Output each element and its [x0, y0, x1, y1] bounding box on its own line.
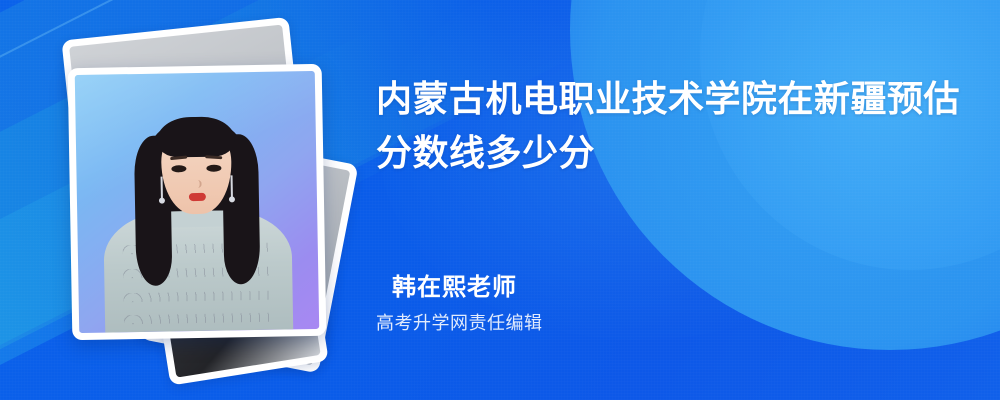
author-role: 高考升学网责任编辑	[376, 310, 936, 336]
portrait-earring-right	[231, 176, 233, 198]
article-banner: 内蒙古机电职业技术学院在新疆预估分数线多少分 韩在熙老师 高考升学网责任编辑	[0, 0, 1000, 400]
portrait-lips	[188, 193, 205, 201]
author-name: 韩在熙老师	[376, 272, 936, 304]
photo-card-front	[68, 64, 327, 340]
portrait-eye-right	[206, 164, 221, 171]
portrait-brow-right	[205, 155, 222, 159]
portrait-fringe	[157, 116, 236, 157]
author-photo	[75, 71, 319, 333]
page-title: 内蒙古机电职业技术学院在新疆预估分数线多少分	[376, 72, 964, 180]
author-byline: 韩在熙老师 高考升学网责任编辑	[376, 272, 936, 336]
portrait-earring-left	[161, 177, 163, 199]
portrait-eye-left	[171, 165, 186, 172]
banner-content: 内蒙古机电职业技术学院在新疆预估分数线多少分 韩在熙老师 高考升学网责任编辑	[376, 0, 976, 400]
photo-card-stack	[46, 28, 346, 358]
portrait-illustration	[75, 71, 319, 333]
